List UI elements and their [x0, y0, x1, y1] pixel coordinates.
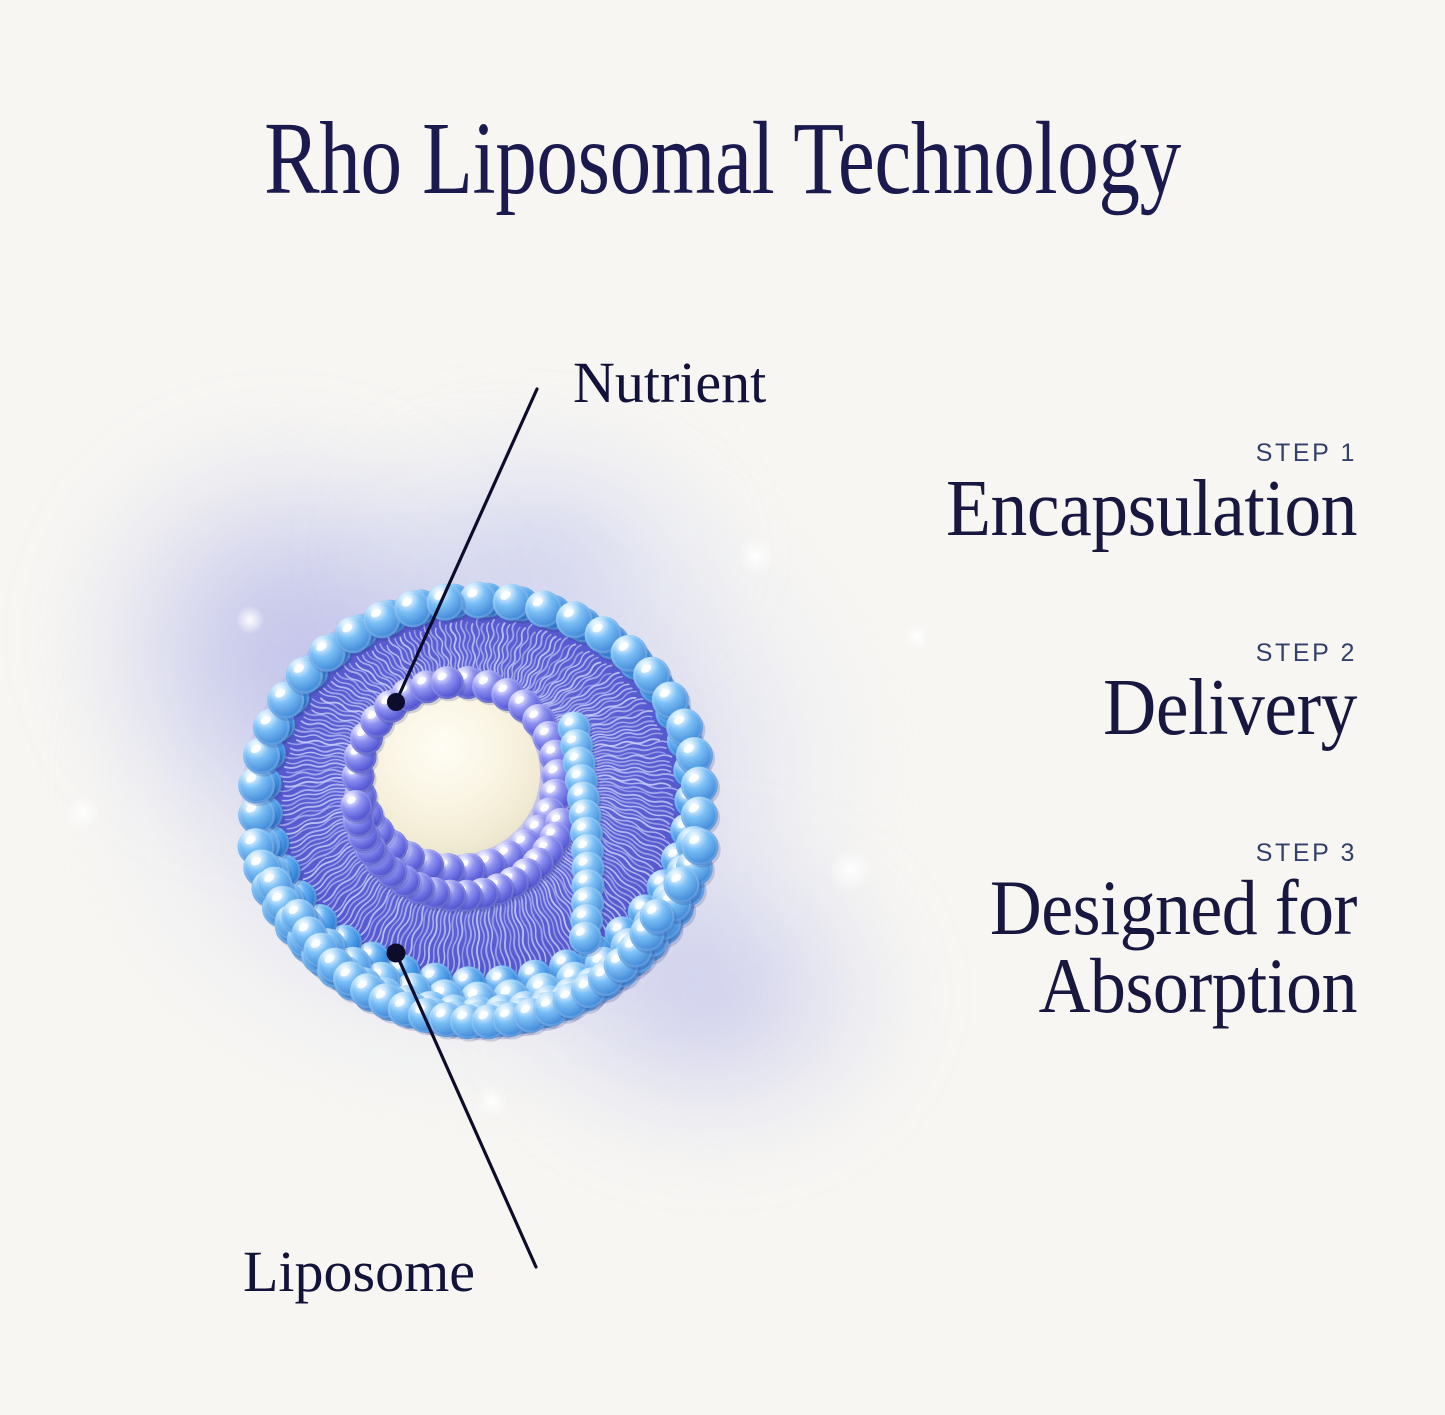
step-2-kicker: STEP 2 — [797, 640, 1357, 668]
step-item-2: STEP 2 Delivery — [797, 640, 1357, 748]
callout-label-liposome: Liposome — [243, 1243, 475, 1301]
step-3-kicker: STEP 3 — [797, 840, 1357, 868]
liposome-illustration — [198, 548, 758, 1048]
step-1-title: Encapsulation — [842, 470, 1357, 548]
step-1-kicker: STEP 1 — [797, 440, 1357, 468]
step-2-title: Delivery — [842, 669, 1357, 747]
steps-list: STEP 1 Encapsulation STEP 2 Delivery STE… — [797, 440, 1357, 1025]
page-title: Rho Liposomal Technology — [145, 104, 1301, 213]
infographic-canvas: Rho Liposomal Technology — [0, 0, 1445, 1415]
step-item-3: STEP 3 Designed for Absorption — [797, 840, 1357, 1026]
sparkle-dot — [470, 1080, 514, 1124]
sparkle-dot — [60, 790, 106, 836]
callout-label-nutrient: Nutrient — [573, 354, 766, 412]
step-item-1: STEP 1 Encapsulation — [797, 440, 1357, 548]
step-3-title: Designed for Absorption — [842, 869, 1357, 1025]
